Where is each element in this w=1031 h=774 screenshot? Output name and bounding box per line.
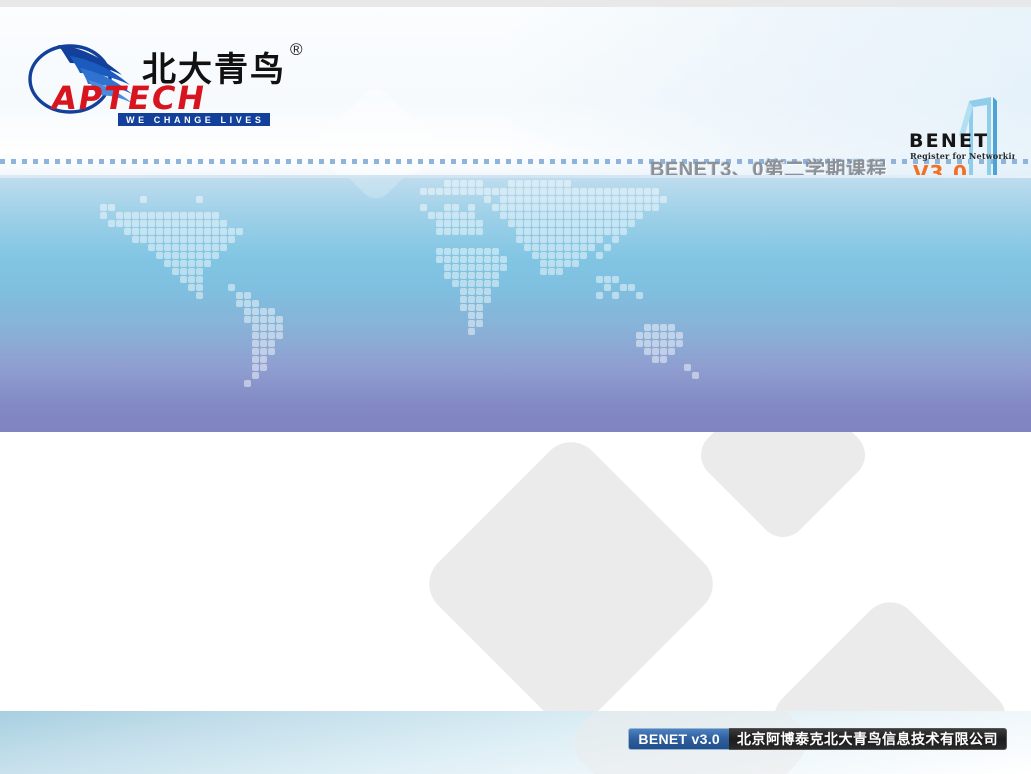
body-diamond-bottom-right	[763, 591, 1018, 711]
presentation-slide: 北大青鸟 ® APTECH WE CHANGE LIVES BENET3、0第二…	[0, 0, 1031, 774]
svg-text:®: ®	[290, 40, 303, 59]
svg-text:Register for Networking: Register for Networking	[910, 151, 1015, 161]
body-diamond-large	[417, 432, 725, 711]
aptech-logo-graphic: 北大青鸟 ® APTECH WE CHANGE LIVES	[22, 29, 322, 129]
svg-text:WE CHANGE LIVES: WE CHANGE LIVES	[126, 115, 265, 125]
aptech-logo: 北大青鸟 ® APTECH WE CHANGE LIVES	[22, 29, 322, 129]
svg-text:APTECH: APTECH	[48, 79, 209, 117]
world-map-dot-pattern	[0, 178, 1031, 432]
footer-badge-group: BENET v3.0 北京阿博泰克北大青鸟信息技术有限公司	[628, 728, 1007, 750]
slide-header: 北大青鸟 ® APTECH WE CHANGE LIVES BENET3、0第二…	[0, 7, 1031, 178]
slide-footer: BENET v3.0 北京阿博泰克北大青鸟信息技术有限公司	[0, 711, 1031, 774]
svg-text:BENET: BENET	[909, 130, 989, 152]
top-edge-strip	[0, 0, 1031, 7]
title-banner: 使用ASP.NET构建动态网站	[0, 178, 1031, 432]
company-name-badge: 北京阿博泰克北大青鸟信息技术有限公司	[729, 728, 1007, 750]
benet-version-badge: BENET v3.0	[628, 728, 729, 750]
body-diamond-top-right	[691, 432, 875, 547]
slide-body	[0, 432, 1031, 711]
benet-logo: BENET Register for Networking V3.0	[905, 95, 1015, 178]
benet-logo-graphic: BENET Register for Networking V3.0	[905, 95, 1015, 178]
